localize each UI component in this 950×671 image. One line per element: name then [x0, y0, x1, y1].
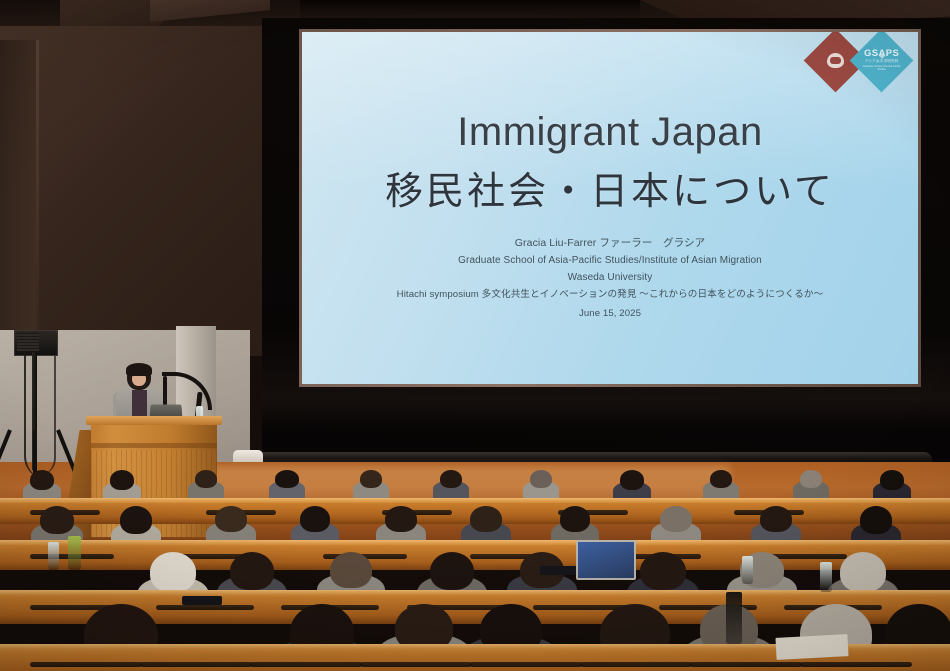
wall-upper-left: [0, 26, 300, 356]
podium-top-surface: [86, 416, 222, 425]
desk-cable-slot: [360, 662, 472, 667]
gsaps-japanese-label: アジア太平洋研究科: [859, 60, 904, 64]
desk-cable-slot: [690, 662, 802, 667]
audience-desk-row: [0, 540, 950, 570]
audience-member-head: [275, 470, 299, 488]
audience-member-head: [430, 552, 474, 590]
audience-member-head: [110, 470, 134, 490]
laptop-audience-laptop: [576, 540, 636, 580]
slide-title-japanese: 移民社会・日本について: [302, 160, 918, 215]
ceiling-beam: [300, 0, 640, 18]
pa-speaker-grill: [17, 333, 39, 351]
gsaps-english-label: Graduate School of\nAsia-Pacific Studies: [859, 65, 904, 72]
presentation-slide: GSAPS アジア太平洋研究科 Graduate School of\nAsia…: [302, 32, 918, 384]
audience-member-head: [470, 506, 502, 532]
audience-member-head: [120, 506, 152, 534]
projection-screen: GSAPS アジア太平洋研究科 Graduate School of\nAsia…: [299, 29, 921, 387]
bottle-green-drink-bottle: [68, 536, 81, 570]
audience-member-head: [385, 506, 417, 532]
bottle-red-cap-bottle: [820, 562, 832, 592]
gsaps-logo: GSAPS アジア太平洋研究科 Graduate School of\nAsia…: [850, 32, 914, 92]
audience-member-head: [710, 470, 732, 488]
audience-member-head: [800, 470, 822, 488]
audience-member-head: [195, 470, 217, 488]
audience-member-head: [840, 552, 886, 592]
subtitle-date: June 15, 2025: [302, 305, 918, 322]
subtitle-presenter: Gracia Liu-Farrer ファーラー グラシア: [302, 235, 918, 252]
desk-cable-slot: [250, 662, 362, 667]
desk-cable-slot: [140, 662, 252, 667]
speaker-cable-2: [38, 356, 56, 476]
desk-cable-slot: [800, 662, 912, 667]
audience-member-head: [150, 552, 196, 592]
presenter-hair: [126, 363, 152, 376]
gsaps-logo-inner: GSAPS アジア太平洋研究科 Graduate School of\nAsia…: [859, 49, 904, 72]
audience-member-head: [30, 470, 54, 490]
audience-member-head: [760, 506, 792, 532]
phone-smartphone: [182, 596, 222, 605]
bottle-water-bottle: [742, 556, 753, 584]
audience-member-head: [560, 506, 590, 532]
slide-logos: GSAPS アジア太平洋研究科 Graduate School of\nAsia…: [813, 38, 904, 83]
audience-member-head: [660, 506, 692, 532]
waseda-crest-inner: [827, 53, 844, 68]
audience-member-head: [230, 552, 274, 590]
subtitle-affiliation: Graduate School of Asia-Pacific Studies/…: [302, 252, 918, 269]
subtitle-event: Hitachi symposium 多文化共生とイノベーションの発見 〜これから…: [302, 286, 918, 303]
bottle-water-bottle: [48, 542, 59, 570]
wall-seam: [36, 40, 39, 340]
desk-cable-slot: [580, 662, 692, 667]
paper-handout: [775, 634, 848, 660]
desk-cable-slot: [470, 662, 582, 667]
desk-lip: [0, 498, 950, 503]
slide-subtitle-block: Gracia Liu-Farrer ファーラー グラシア Graduate Sc…: [302, 235, 918, 322]
auditorium-photo: GSAPS アジア太平洋研究科 Graduate School of\nAsia…: [0, 0, 950, 671]
desk-lip: [0, 540, 950, 545]
audience-member-head: [860, 506, 892, 534]
audience-member-head: [530, 470, 552, 488]
tumbler-black-tumbler: [726, 592, 742, 644]
audience-member-head: [620, 470, 644, 490]
audience-member-head: [40, 506, 74, 534]
crest-icon: [827, 53, 844, 68]
audience-member-head: [215, 506, 247, 532]
audience-member-head: [330, 552, 372, 588]
phone-smartphone: [540, 566, 578, 575]
desk-cable-slot: [156, 605, 254, 610]
desk-cable-slot: [30, 662, 142, 667]
slide-title-english: Immigrant Japan: [302, 110, 918, 155]
wall-column-left: [0, 40, 36, 340]
audience-member-head: [640, 552, 686, 590]
audience-member-head: [300, 506, 330, 532]
audience-member-head: [440, 470, 462, 488]
podium-trim: [91, 443, 217, 448]
audience-member-head: [360, 470, 382, 488]
desk-lip: [0, 590, 950, 595]
audience-member-head: [880, 470, 904, 490]
subtitle-university: Waseda University: [302, 269, 918, 286]
